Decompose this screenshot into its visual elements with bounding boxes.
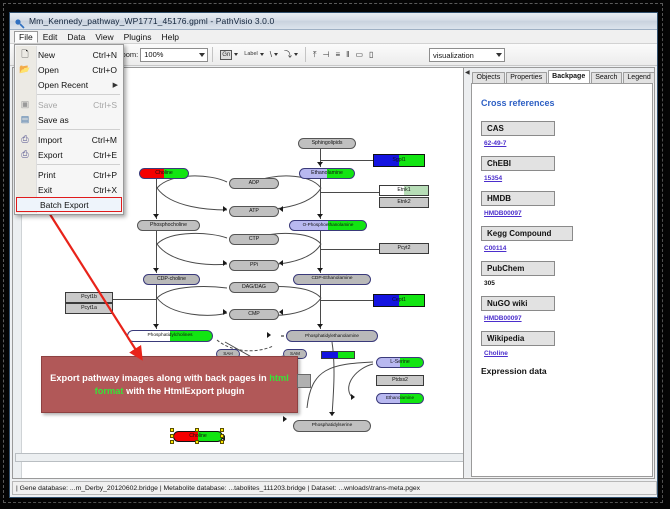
edge-anchor-cept1 — [320, 300, 374, 301]
selection-handle[interactable] — [195, 440, 199, 444]
arrow-icon — [223, 206, 227, 212]
pathvisio-icon — [14, 16, 25, 27]
callout-text-before: Export pathway images along with back pa… — [50, 373, 269, 383]
edge-anchor-pcyt1 — [113, 299, 157, 300]
connector-icon: ⤵ — [284, 51, 292, 59]
line-icon: \ — [270, 51, 272, 59]
menu-bar: File Edit Data View Plugins Help — [10, 30, 657, 44]
menu-item-accelerator: Ctrl+P — [93, 170, 123, 180]
menu-item-open[interactable]: 📂 Open Ctrl+O — [15, 62, 123, 77]
menu-item-print[interactable]: Print Ctrl+P — [15, 167, 123, 182]
align-left-icon: ⊣ — [323, 51, 330, 59]
zoom-combobox[interactable]: 100% — [140, 48, 208, 62]
menu-item-label: Import — [35, 135, 92, 145]
common-width-icon: ▭ — [355, 51, 363, 59]
selection-handle[interactable] — [220, 440, 224, 444]
xref-label-pubchem: PubChem — [481, 261, 555, 276]
xref-label-chebi: ChEBI — [481, 156, 555, 171]
outer-frame: Mm_Kennedy_pathway_WP1771_45176.gpml - P… — [0, 0, 670, 509]
xref-value-nugo-wiki[interactable]: HMDB00097 — [484, 315, 643, 322]
menu-item-label: Save — [35, 100, 93, 110]
gene-box-small[interactable] — [321, 351, 355, 359]
menu-item-label: New — [35, 50, 93, 60]
edge-anchor-pcyt2 — [320, 249, 380, 250]
tab-backpage[interactable]: Backpage — [548, 70, 590, 84]
menu-data[interactable]: Data — [62, 31, 90, 43]
distribute-horizontal-button[interactable]: ‖ — [344, 47, 351, 63]
selection-handle[interactable] — [195, 428, 199, 432]
callout-text-after: with the HtmlExport plugin — [124, 386, 245, 396]
node-ethanolamine[interactable]: Ethanolamine — [299, 168, 355, 179]
node-cdp-choline[interactable]: CDP-choline — [143, 274, 200, 285]
node-sphingolipids[interactable]: Sphingolipids — [298, 138, 356, 149]
selection-handle[interactable] — [170, 440, 174, 444]
gene-pcyt1b[interactable]: Pcyt1b — [65, 292, 113, 303]
edge-anchor-etnk — [320, 192, 380, 193]
align-left-button[interactable]: ⊣ — [321, 47, 332, 63]
xref-label-cas: CAS — [481, 121, 555, 136]
toolbar-separator — [305, 47, 306, 62]
arrow-icon — [283, 416, 287, 422]
menu-item-export[interactable]: ⎙ Export Ctrl+E — [15, 147, 123, 162]
menu-item-open-recent[interactable]: Open Recent ▶ — [15, 77, 123, 92]
connector-tool-button[interactable]: ⤵ — [282, 47, 300, 63]
menu-item-accelerator: Ctrl+N — [93, 50, 123, 60]
menu-item-import[interactable]: ⎙ Import Ctrl+M — [15, 132, 123, 147]
canvas-horizontal-scrollbar[interactable] — [15, 453, 464, 462]
selection-handle[interactable] — [220, 428, 224, 432]
arrow-icon — [351, 394, 355, 400]
selection-handle[interactable] — [170, 434, 174, 438]
selection-handle[interactable] — [170, 428, 174, 432]
node-cdp-ethanolamine[interactable]: CDP-Ethanolamine — [293, 274, 371, 285]
xref-value-wikipedia[interactable]: Choline — [484, 350, 643, 357]
menu-item-label: Open — [35, 65, 92, 75]
menu-help[interactable]: Help — [157, 31, 184, 43]
menu-item-label: Open Recent — [35, 80, 113, 90]
align-middle-icon: ≡ — [336, 51, 341, 59]
cross-references-title: Cross references — [481, 98, 643, 108]
menu-item-label: Batch Export — [37, 200, 121, 210]
chevron-down-icon — [496, 53, 502, 57]
status-bar: | Gene database: ...m_Derby_20120602.bri… — [12, 481, 657, 495]
node-phosphocholine[interactable]: Phosphocholine — [137, 220, 200, 231]
distribute-horizontal-icon: ‖ — [346, 51, 349, 59]
side-panel: ◀ Objects Properties Backpage Search Leg… — [463, 67, 655, 479]
gene-pcyt1a[interactable]: Pcyt1a — [65, 303, 113, 314]
align-top-icon: ⤒ — [313, 51, 317, 59]
menu-item-exit[interactable]: Exit Ctrl+X — [15, 182, 123, 197]
chevron-down-icon — [234, 53, 238, 56]
chevron-down-icon — [260, 53, 264, 56]
menu-file[interactable]: File — [14, 31, 38, 43]
tab-legend[interactable]: Legend — [623, 72, 655, 84]
menu-item-batch-export[interactable]: Batch Export — [16, 197, 122, 212]
xref-value-pubchem: 305 — [484, 280, 643, 287]
xref-label-hmdb: HMDB — [481, 191, 555, 206]
tab-objects[interactable]: Objects — [472, 72, 505, 84]
status-bar-text: | Gene database: ...m_Derby_20120602.bri… — [16, 485, 420, 492]
menu-item-accelerator: Ctrl+O — [92, 65, 123, 75]
save-icon: ▣ — [15, 100, 35, 109]
annotation-callout: Export pathway images along with back pa… — [41, 356, 298, 413]
node-atp[interactable]: ATP — [229, 206, 279, 217]
backpage-content: Cross references CAS 62-49-7 ChEBI 15354… — [471, 83, 653, 477]
xref-value-chebi[interactable]: 15354 — [484, 175, 643, 182]
menu-item-accelerator: Ctrl+S — [93, 100, 123, 110]
file-menu-dropdown[interactable]: 🗋 New Ctrl+N 📂 Open Ctrl+O Open Recent ▶… — [14, 44, 124, 215]
menu-edit[interactable]: Edit — [38, 31, 63, 43]
save-as-icon: ▤ — [15, 115, 35, 124]
tab-properties[interactable]: Properties — [506, 72, 547, 84]
gene-sgpl1[interactable]: Sgpl1 — [373, 154, 425, 167]
callout-text: Export pathway images along with back pa… — [48, 372, 291, 398]
visualization-value: visualization — [433, 51, 474, 60]
common-height-button[interactable]: ▯ — [367, 47, 375, 63]
tab-scroll-left-icon[interactable]: ◀ — [465, 70, 470, 76]
title-bar: Mm_Kennedy_pathway_WP1771_45176.gpml - P… — [10, 13, 657, 30]
xref-value-kegg-compound[interactable]: C00114 — [484, 245, 643, 252]
xref-value-hmdb[interactable]: HMDB00097 — [484, 210, 643, 217]
gene-etnk2[interactable]: Etnk2 — [379, 197, 429, 208]
line-tool-button[interactable]: \ — [268, 47, 280, 63]
arrow-icon — [279, 309, 283, 315]
window-title: Mm_Kennedy_pathway_WP1771_45176.gpml - P… — [29, 16, 274, 26]
menu-item-accelerator: Ctrl+X — [93, 185, 123, 195]
label-icon: Label — [244, 52, 257, 58]
gene-ptdss2[interactable]: Ptdss2 — [376, 375, 424, 386]
menu-separator — [37, 164, 120, 165]
arrow-icon — [279, 206, 283, 212]
side-panel-tab-strip: ◀ Objects Properties Backpage Search Leg… — [464, 68, 654, 83]
toolbar-separator — [212, 47, 213, 62]
gene-product-icon: Gn — [220, 50, 232, 60]
tab-search[interactable]: Search — [591, 72, 622, 84]
menu-separator — [37, 129, 120, 130]
xref-label-kegg-compound: Kegg Compound — [481, 226, 573, 241]
xref-label-nugo-wiki: NuGO wiki — [481, 296, 555, 311]
arrow-icon — [223, 260, 227, 266]
node-phosphatidylcholines[interactable]: Phosphatidylcholines — [127, 330, 213, 342]
menu-item-save[interactable]: ▣ Save Ctrl+S — [15, 97, 123, 112]
arrow-icon — [267, 332, 271, 338]
node-ethanolamine-2[interactable]: Ethanolamine — [376, 393, 424, 404]
common-height-icon: ▯ — [369, 51, 373, 59]
expression-data-heading: Expression data — [481, 366, 643, 376]
gene-etnk1[interactable]: Etnk1 — [379, 185, 429, 196]
node-choline-top[interactable]: Choline — [139, 168, 189, 179]
gene-pcyt2[interactable]: Pcyt2 — [379, 243, 429, 254]
common-width-button[interactable]: ▭ — [353, 47, 365, 63]
gene-product-tool-button[interactable]: Gn — [218, 47, 240, 63]
menu-item-label: Print — [35, 170, 93, 180]
menu-item-new[interactable]: 🗋 New Ctrl+N — [15, 47, 123, 62]
align-middle-button[interactable]: ≡ — [334, 47, 343, 63]
align-top-button[interactable]: ⤒ — [311, 47, 319, 63]
node-ppi[interactable]: PPi — [229, 260, 279, 271]
arrow-icon — [223, 309, 227, 315]
selection-handle[interactable] — [220, 434, 224, 438]
label-tool-button[interactable]: Label — [242, 47, 265, 63]
chevron-down-icon — [199, 53, 205, 57]
menu-separator — [37, 94, 120, 95]
menu-view[interactable]: View — [90, 31, 118, 43]
menu-item-label: Export — [35, 150, 93, 160]
chevron-down-icon — [274, 53, 278, 56]
menu-item-accelerator: Ctrl+M — [92, 135, 123, 145]
node-adp[interactable]: ADP — [229, 178, 279, 189]
node-ctp[interactable]: CTP — [229, 234, 279, 245]
node-o-phosphoethanolamine[interactable]: O-Phosphoethanolamine — [289, 220, 367, 231]
folder-open-icon: 📂 — [15, 65, 35, 74]
callout-anchor — [297, 374, 311, 388]
node-phosphatidylethanolamine[interactable]: Phosphatidylethanolamine — [286, 330, 378, 342]
arrow-icon — [329, 412, 335, 416]
node-cmp[interactable]: CMP — [229, 309, 279, 320]
node-dag[interactable]: DAG/DAG — [229, 282, 279, 293]
xref-value-cas[interactable]: 62-49-7 — [484, 140, 643, 147]
zoom-value: 100% — [144, 50, 163, 59]
xref-label-wikipedia: Wikipedia — [481, 331, 555, 346]
menu-item-label: Save as — [35, 115, 117, 125]
submenu-arrow-icon: ▶ — [113, 81, 123, 89]
edge-anchor-sgpl1 — [320, 160, 374, 161]
node-phosphatidylserine[interactable]: Phosphatidylserine — [293, 420, 371, 432]
arrow-icon — [279, 260, 283, 266]
import-icon: ⎙ — [15, 135, 35, 144]
pathvisio-window: Mm_Kennedy_pathway_WP1771_45176.gpml - P… — [9, 12, 658, 498]
gene-cept1[interactable]: Cept1 — [373, 294, 425, 307]
menu-item-accelerator: Ctrl+E — [93, 150, 123, 160]
menu-item-save-as[interactable]: ▤ Save as — [15, 112, 123, 127]
new-file-icon: 🗋 — [15, 50, 35, 59]
visualization-combobox[interactable]: visualization — [429, 48, 505, 62]
menu-plugins[interactable]: Plugins — [119, 31, 157, 43]
menu-item-label: Exit — [35, 185, 93, 195]
node-l-serine[interactable]: L-Serine — [376, 357, 424, 368]
chevron-down-icon — [294, 53, 298, 56]
export-icon: ⎙ — [15, 150, 35, 159]
